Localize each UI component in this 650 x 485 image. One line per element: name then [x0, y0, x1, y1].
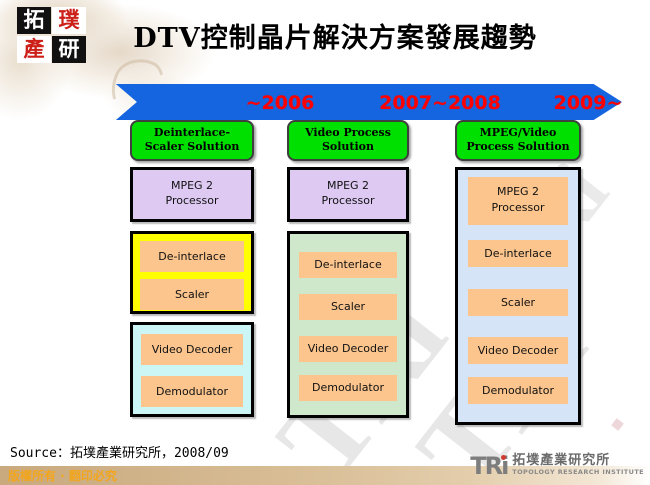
footer-institute-name-cn: 拓墣產業研究所 — [512, 455, 644, 466]
video-process-group-1: De-interlace Scaler — [130, 231, 254, 314]
timeline-labels: ~2006 2007~2008 2009~ — [97, 84, 622, 120]
block-de-interlace: De-interlace — [299, 252, 397, 278]
block-video-decoder: Video Decoder — [141, 334, 243, 365]
mpeg2-group-1: MPEG 2 Processor — [130, 167, 254, 222]
column-header-1: Deinterlace- Scaler Solution — [130, 120, 254, 161]
column-header-line-2: Process Solution — [459, 140, 577, 154]
integrated-group-3: MPEG 2 Processor De-interlace Scaler Vid… — [455, 167, 581, 425]
solution-column-3: MPEG/Video Process Solution MPEG 2 Proce… — [455, 120, 581, 425]
source-note: Source：拓墣產業研究所，2008/09 — [10, 442, 229, 461]
timeline-label-3: 2009~ — [529, 92, 647, 114]
block-scaler: Scaler — [299, 294, 397, 320]
solution-column-2: Video Process Solution MPEG 2 Processor … — [287, 120, 409, 418]
timeline-label-1: ~2006 — [215, 92, 345, 114]
seal-char-1: 拓 — [17, 7, 51, 34]
tri-seal-logo: 拓 璞 產 研 — [17, 7, 89, 65]
column-header-line-1: Deinterlace- — [134, 126, 250, 140]
mpeg2-label-line-2: Processor — [296, 193, 400, 208]
block-demodulator: Demodulator — [299, 375, 397, 401]
tri-wordmark-icon: TRi — [470, 454, 507, 478]
seal-char-3: 產 — [17, 36, 51, 63]
block-mpeg2-processor: MPEG 2 Processor — [468, 177, 568, 225]
footer-copyright: 版權所有 · 翻印必究 — [8, 467, 117, 484]
mpeg2-label-line-1: MPEG 2 — [296, 178, 400, 193]
seal-char-2: 璞 — [52, 7, 86, 34]
column-header-line-1: MPEG/Video — [459, 126, 577, 140]
column-header-3: MPEG/Video Process Solution — [455, 120, 581, 161]
page-title: DTV控制晶片解決方案發展趨勢 — [100, 16, 570, 55]
block-de-interlace: De-interlace — [468, 240, 568, 267]
front-end-group-1: Video Decoder Demodulator — [130, 322, 254, 417]
video-process-group-2: De-interlace Scaler Video Decoder Demodu… — [287, 231, 409, 418]
timeline-arrow-banner: ~2006 2007~2008 2009~ — [97, 84, 622, 120]
column-header-2: Video Process Solution — [287, 120, 409, 161]
seal-char-4: 研 — [52, 36, 86, 63]
block-scaler: Scaler — [140, 279, 244, 310]
block-demodulator: Demodulator — [468, 377, 568, 404]
column-header-line-2: Solution — [291, 140, 405, 154]
mpeg2-label-line-2: Processor — [468, 200, 568, 216]
block-video-decoder: Video Decoder — [468, 337, 568, 364]
mpeg2-group-2: MPEG 2 Processor — [287, 167, 409, 222]
timeline-label-2: 2007~2008 — [355, 92, 525, 114]
block-video-decoder: Video Decoder — [299, 336, 397, 362]
block-de-interlace: De-interlace — [140, 241, 244, 272]
footer-institute-name: 拓墣產業研究所 TOPOLOGY RESEARCH INSTITUTE — [512, 455, 644, 478]
mpeg2-label-line-1: MPEG 2 — [468, 184, 568, 200]
column-header-line-1: Video Process — [291, 126, 405, 140]
block-scaler: Scaler — [468, 289, 568, 316]
solution-column-1: Deinterlace- Scaler Solution MPEG 2 Proc… — [130, 120, 254, 417]
mpeg2-label-line-2: Processor — [139, 193, 245, 208]
footer-logo: TRi 拓墣產業研究所 TOPOLOGY RESEARCH INSTITUTE — [470, 454, 644, 478]
block-demodulator: Demodulator — [141, 376, 243, 407]
column-header-line-2: Scaler Solution — [134, 140, 250, 154]
mpeg2-label-line-1: MPEG 2 — [139, 178, 245, 193]
watermark-dot — [611, 418, 624, 431]
footer-institute-name-en: TOPOLOGY RESEARCH INSTITUTE — [512, 467, 644, 478]
